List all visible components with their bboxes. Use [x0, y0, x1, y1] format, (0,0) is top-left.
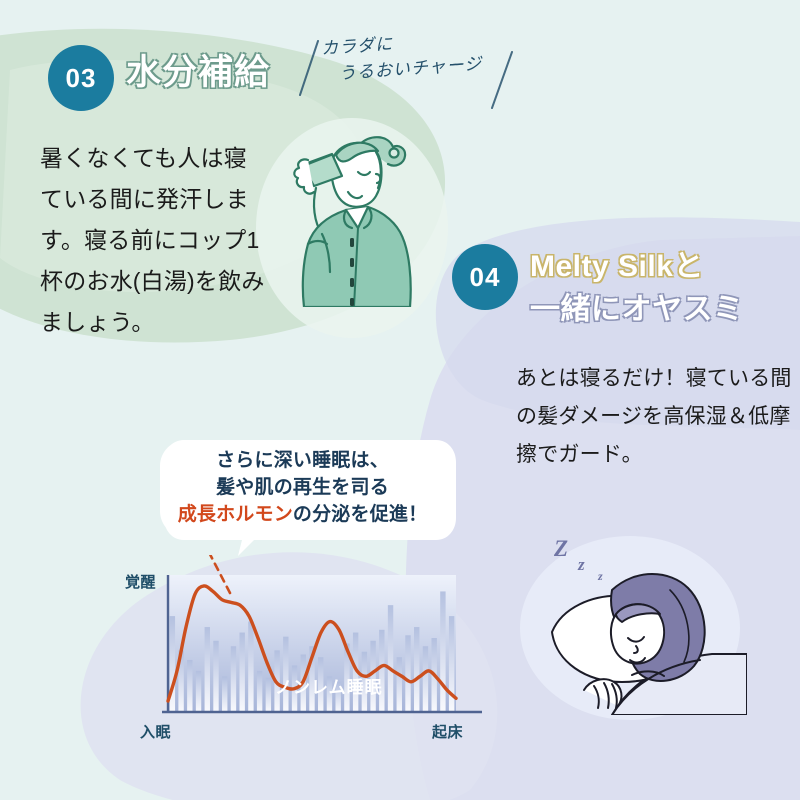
handwritten-note-line1: カラダに — [321, 34, 394, 59]
chart-label-sleep-start: 入眠 — [140, 721, 171, 742]
chart-bar — [213, 641, 218, 712]
section-title-04-line2: 一緒にオヤスミ — [530, 289, 744, 332]
chart-bar — [388, 605, 393, 712]
section-badge-04: 04 — [452, 244, 518, 310]
chart-bar — [423, 646, 428, 712]
svg-text:Z: Z — [553, 536, 568, 561]
chart-bar — [379, 630, 384, 712]
section-badge-03: 03 — [48, 45, 114, 111]
chart-bar — [440, 591, 445, 712]
chart-label-wake-up: 起床 — [432, 721, 463, 742]
chart-bar — [257, 671, 262, 712]
callout-highlight: 成長ホルモン — [178, 504, 293, 525]
chart-bar — [222, 676, 227, 712]
chart-bar — [205, 627, 210, 712]
section-title-04-line1: Melty Silkと — [530, 250, 704, 283]
chart-label-awake: 覚醒 — [125, 571, 156, 592]
chart-bar — [196, 671, 201, 712]
chart-bar — [414, 627, 419, 712]
sleep-z-icon: Z z z — [553, 536, 603, 583]
illustration-woman-sleeping: Z z z — [512, 520, 747, 715]
callout-line-1: さらに深い睡眠は、 — [216, 448, 389, 475]
infographic-page: 03 水分補給 カラダに うるおいチャージ 暑くなくても人は寝ている間に発汗しま… — [0, 0, 800, 800]
callout-line-3-rest: の分泌を促進！ — [293, 504, 427, 525]
svg-text:z: z — [597, 569, 603, 583]
callout-bubble: さらに深い睡眠は、 髪や肌の再生を司る 成長ホルモンの分泌を促進！ — [160, 440, 445, 537]
chart-bar — [239, 633, 244, 712]
chart-bar — [187, 660, 192, 712]
callout-line-2: 髪や肌の再生を司る — [216, 475, 389, 502]
section-body-04: あとは寝るだけ！寝ている間の髪ダメージを高保湿＆低摩擦でガード。 — [516, 360, 796, 473]
section-title-04: Melty Silkと 一緒にオヤスミ — [530, 246, 744, 331]
sleep-cycle-chart: 覚醒 入眠 起床 ノンレム睡眠 — [110, 555, 510, 755]
illustration-woman-drinking — [272, 122, 432, 307]
chart-bar — [266, 678, 271, 712]
svg-text:z: z — [577, 555, 585, 574]
callout-line-3: 成長ホルモンの分泌を促進！ — [178, 502, 428, 529]
section-title-03: 水分補給 — [126, 52, 270, 95]
chart-series-label: ノンレム睡眠 — [275, 673, 383, 698]
chart-bar — [248, 622, 253, 712]
section-body-03: 暑くなくても人は寝ている間に発汗します。寝る前にコップ1杯のお水(白湯)を飲みま… — [40, 138, 270, 343]
chart-bar — [405, 635, 410, 712]
chart-bar — [231, 646, 236, 712]
chart-bar — [397, 657, 402, 712]
